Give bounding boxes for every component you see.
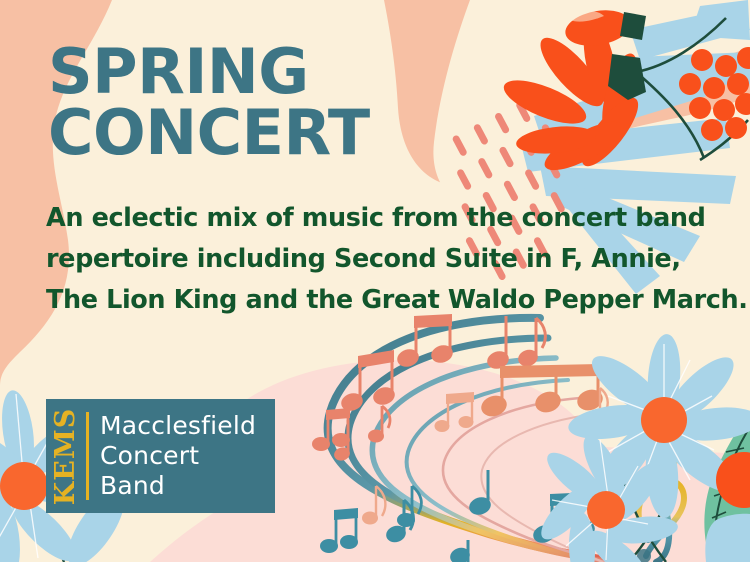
logo-name-line-3: Band [100,471,256,501]
page-title: SPRING CONCERT [48,42,370,164]
title-line-1: SPRING [48,42,370,103]
logo-mark: KEMS [46,399,86,513]
description-line-1: An eclectic mix of music from the concer… [46,198,706,239]
logo-mark-text: KEMS [51,407,82,504]
logo-wordmark: Macclesfield Concert Band [100,411,256,501]
kems-logo: KEMS Macclesfield Concert Band [46,399,275,513]
logo-name-line-2: Concert [100,441,256,471]
title-line-2: CONCERT [48,103,370,164]
flower-center [0,462,48,510]
spring-concert-poster: SPRING CONCERT An eclectic mix of music … [0,0,750,562]
description-line-2: repertoire including Second Suite in F, … [46,239,706,280]
logo-divider [86,412,89,500]
description-line-3: The Lion King and the Great Waldo Pepper… [46,280,706,321]
logo-name-line-1: Macclesfield [100,411,256,441]
description-text: An eclectic mix of music from the concer… [46,198,706,321]
